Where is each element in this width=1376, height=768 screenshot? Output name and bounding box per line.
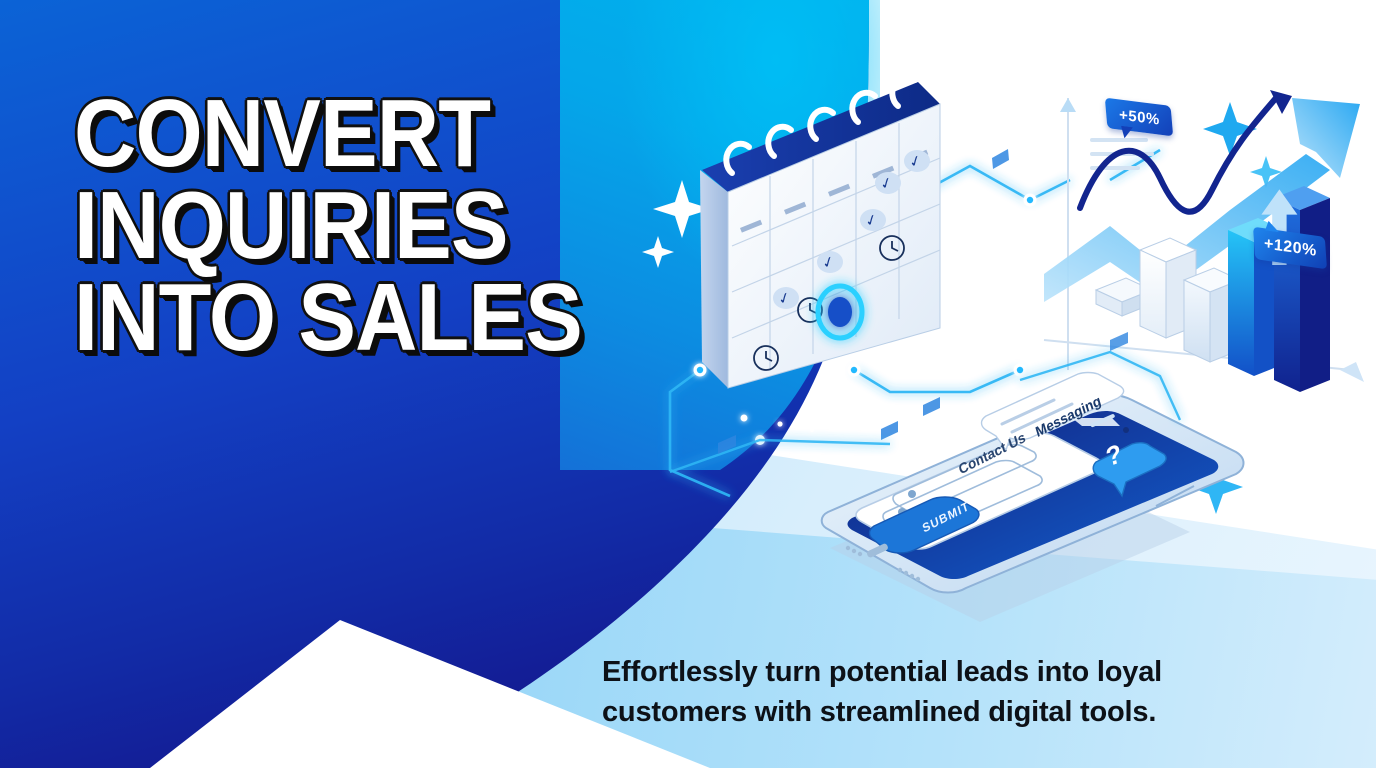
phone-camera-dot bbox=[1123, 427, 1129, 433]
calendar-illustration: ✓ ✓ ✓ ✓ ✓ bbox=[700, 77, 940, 388]
headline-line-3: INTO SALES bbox=[74, 272, 614, 364]
headline-line-1: CONVERT bbox=[74, 88, 614, 180]
promo-banner: CONVERT INQUIRIES INTO SALES Effortlessl… bbox=[0, 0, 1376, 768]
subtitle: Effortlessly turn potential leads into l… bbox=[602, 652, 1362, 732]
connector-spark-dots bbox=[741, 415, 815, 433]
phone-illustration bbox=[822, 373, 1244, 623]
page-title: CONVERT INQUIRIES INTO SALES bbox=[74, 88, 614, 364]
chart-down-arrow bbox=[1340, 362, 1364, 382]
headline-line-2: INQUIRIES bbox=[74, 180, 614, 272]
illustration: ✓ ✓ ✓ ✓ ✓ bbox=[640, 40, 1376, 660]
badge-onetwenty-label: +120% bbox=[1263, 235, 1316, 260]
subtitle-line-2: customers with streamlined digital tools… bbox=[602, 692, 1362, 732]
badge-fifty-label: +50% bbox=[1119, 106, 1160, 128]
illustration-svg: ✓ ✓ ✓ ✓ ✓ bbox=[640, 40, 1376, 660]
